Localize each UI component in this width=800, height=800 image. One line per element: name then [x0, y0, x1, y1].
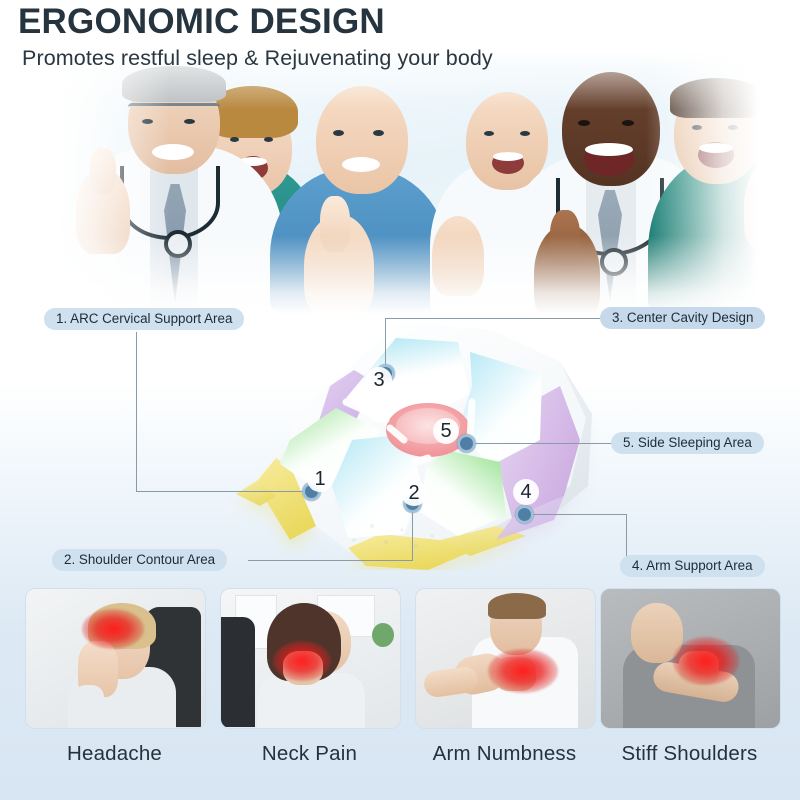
symptom-caption-arm-numbness: Arm Numbness	[415, 742, 594, 766]
infographic-canvas: ERGONOMIC DESIGN Promotes restful sleep …	[0, 0, 800, 800]
pain-highlight-arm	[488, 649, 558, 693]
symptom-card-stiff-shoulders[interactable]: Stiff Shoulders	[600, 588, 779, 766]
hair	[488, 593, 546, 619]
header: ERGONOMIC DESIGN Promotes restful sleep …	[18, 2, 778, 71]
symptom-caption-stiff-shoulders: Stiff Shoulders	[600, 742, 779, 766]
symptom-card-headache[interactable]: Headache	[25, 588, 204, 766]
plant	[372, 623, 394, 647]
callout-2-shoulder-contour-area[interactable]: 2. Shoulder Contour Area	[52, 549, 227, 571]
forearm	[74, 685, 104, 729]
marker-dot-4[interactable]	[518, 508, 531, 521]
symptom-caption-neck-pain: Neck Pain	[220, 742, 399, 766]
callout-4-arm-support-area[interactable]: 4. Arm Support Area	[620, 555, 765, 577]
chair-back	[221, 617, 255, 727]
marker-number-5: 5	[433, 418, 459, 444]
marker-number-1: 1	[307, 466, 333, 492]
symptom-photo-stiff-shoulders	[600, 588, 781, 729]
pain-highlight-shoulder	[673, 637, 739, 685]
symptom-caption-headache: Headache	[25, 742, 204, 766]
symptom-photo-neck-pain	[220, 588, 401, 729]
marker-number-2: 2	[401, 480, 427, 506]
page-subtitle: Promotes restful sleep & Rejuvenating yo…	[22, 45, 778, 71]
symptom-card-neck-pain[interactable]: Neck Pain	[220, 588, 399, 766]
marker-dot-5[interactable]	[460, 437, 473, 450]
pain-highlight-neck	[273, 641, 331, 681]
marker-number-4: 4	[513, 479, 539, 505]
pain-highlight-head	[82, 609, 144, 649]
callout-5-side-sleeping-area[interactable]: 5. Side Sleeping Area	[611, 432, 764, 454]
symptom-photo-headache	[25, 588, 206, 729]
symptom-photo-arm-numbness	[415, 588, 596, 729]
callout-1-arc-cervical-support-area[interactable]: 1. ARC Cervical Support Area	[44, 308, 244, 330]
callout-3-center-cavity-design[interactable]: 3. Center Cavity Design	[600, 307, 765, 329]
marker-number-3: 3	[366, 367, 392, 393]
symptom-cards: Headache Neck Pain	[0, 588, 800, 800]
symptom-card-arm-numbness[interactable]: Arm Numbness	[415, 588, 594, 766]
page-title: ERGONOMIC DESIGN	[18, 2, 778, 42]
